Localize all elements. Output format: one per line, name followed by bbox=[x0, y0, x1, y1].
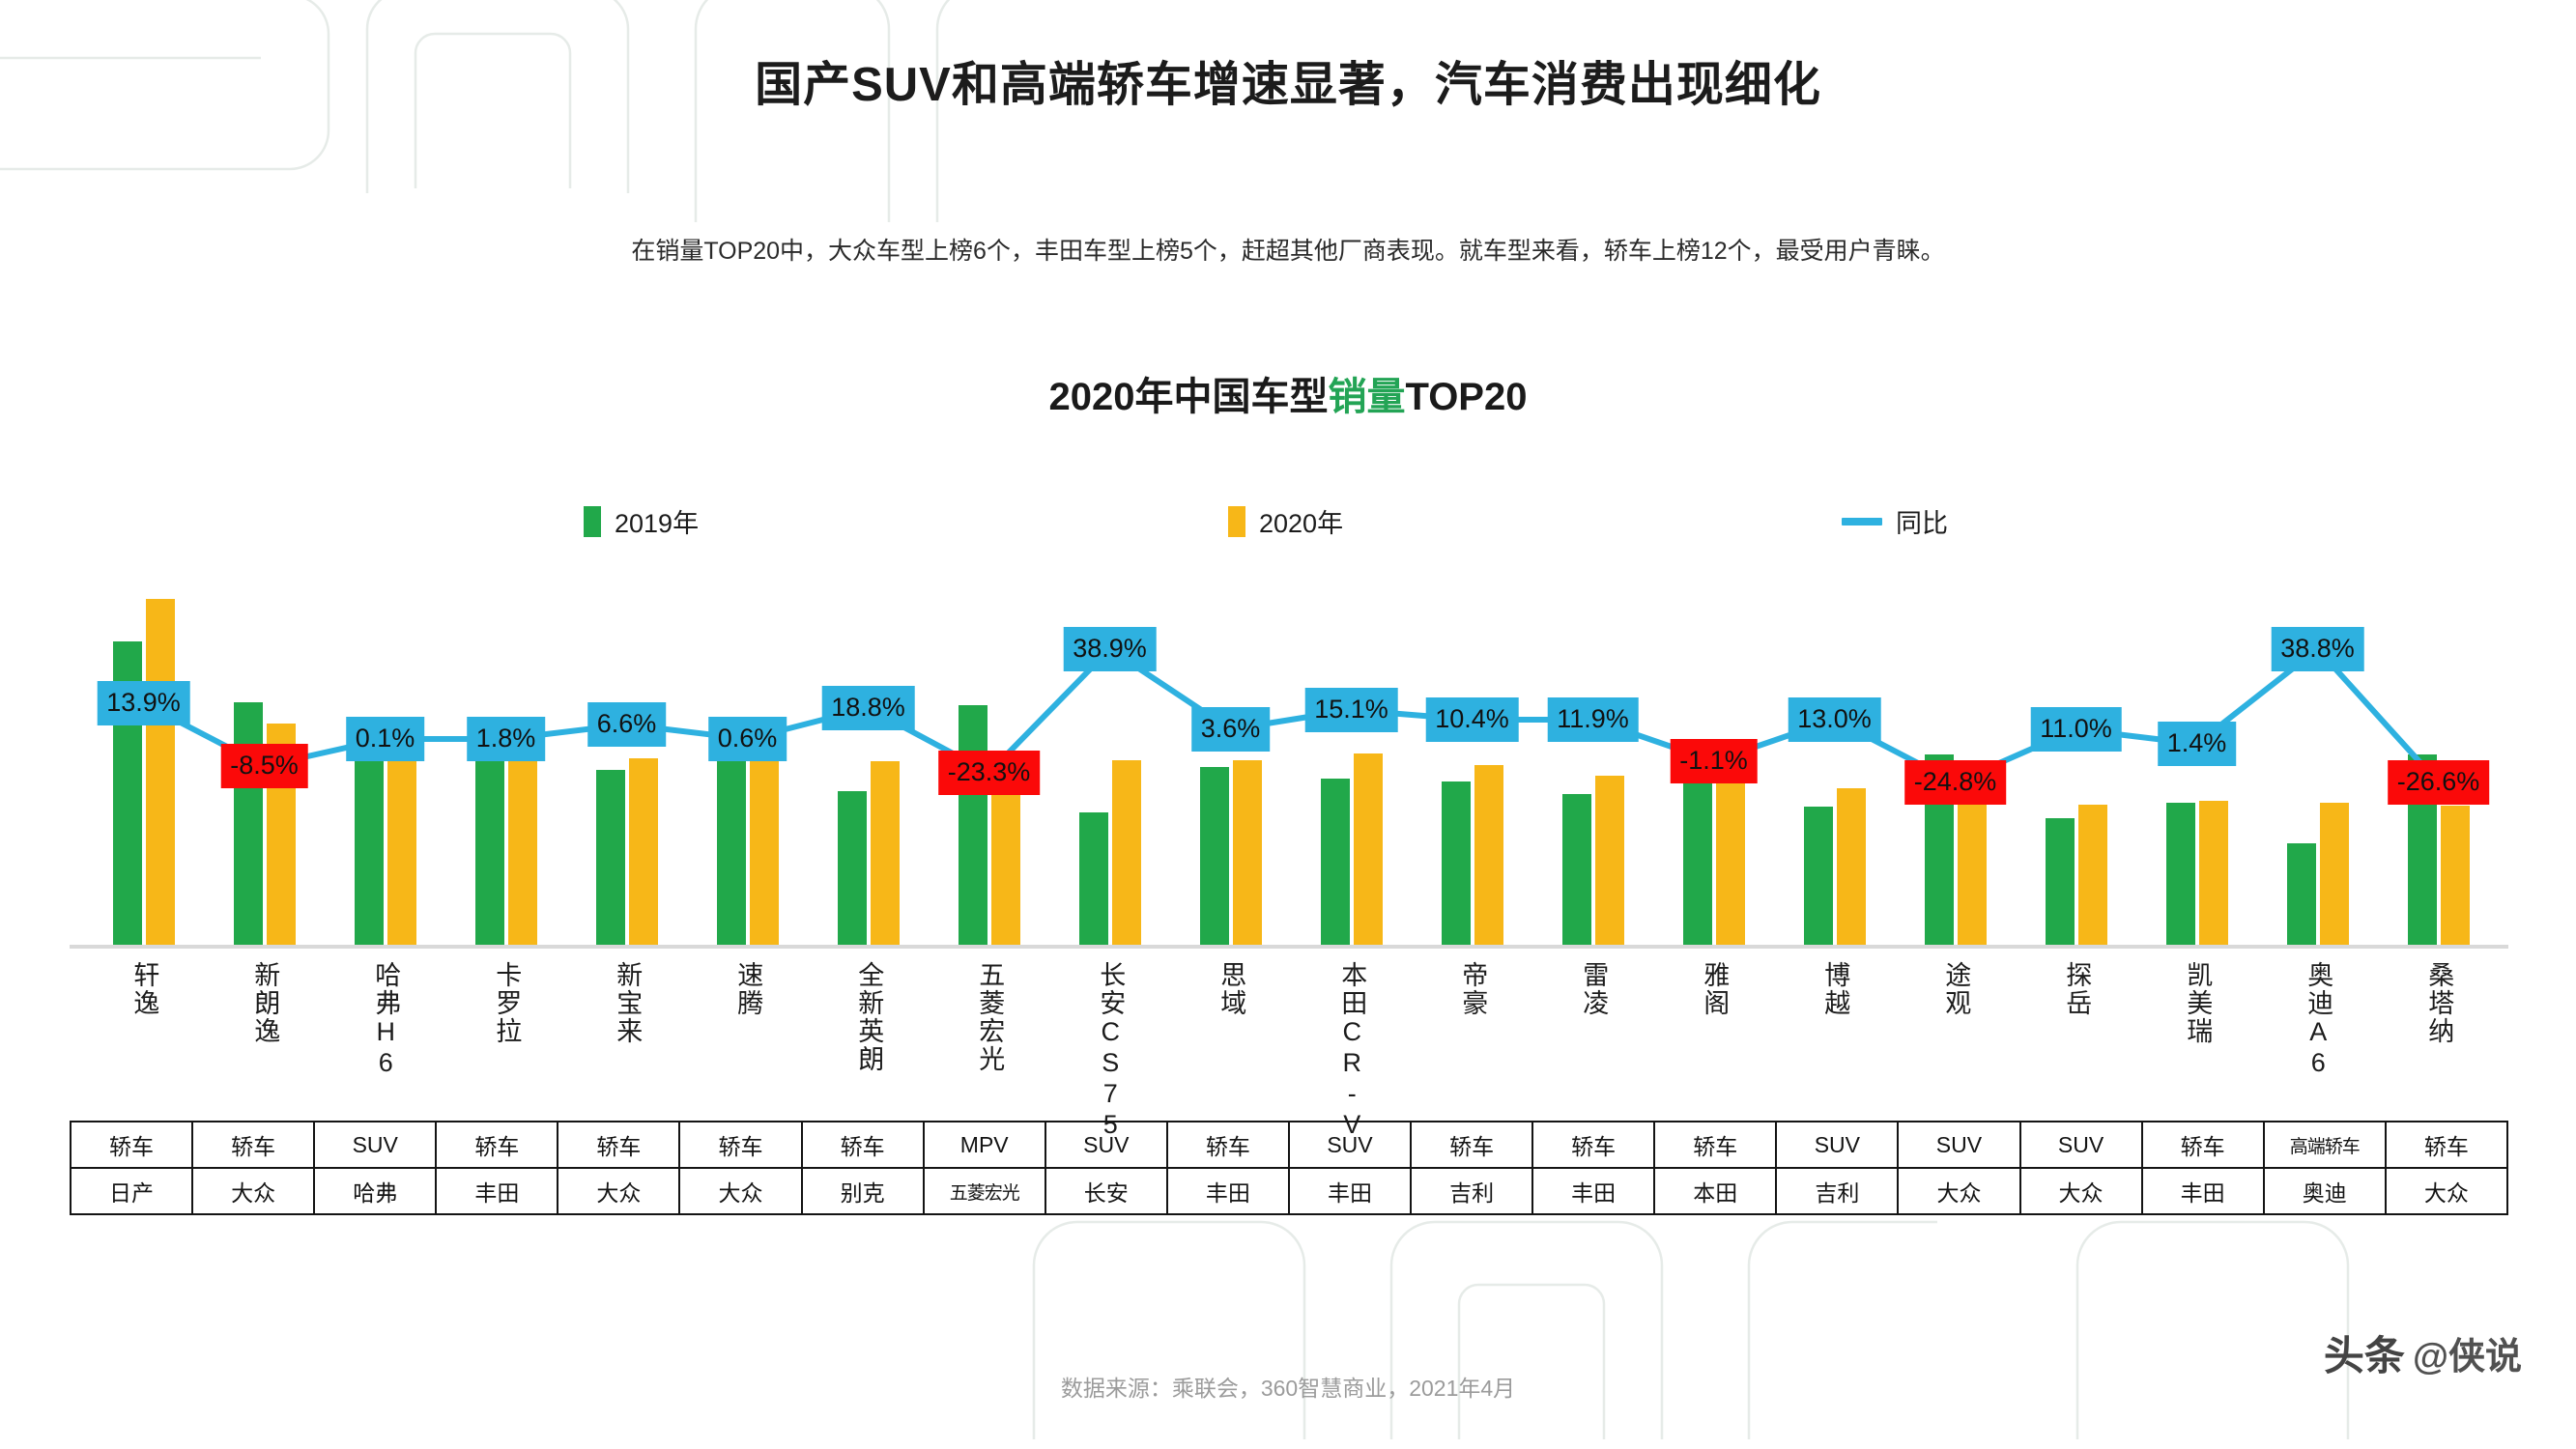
chart-title: 2020年中国车型销量TOP20 bbox=[0, 365, 2576, 421]
bar-group bbox=[566, 599, 687, 947]
x-axis-label: 新宝来 bbox=[614, 961, 641, 1045]
table-cell-vehicle-type: 轿车 bbox=[558, 1122, 679, 1168]
table-cell-brand: 大众 bbox=[192, 1168, 314, 1214]
yoy-label-negative: -26.6% bbox=[2388, 760, 2490, 805]
table-cell-brand: 大众 bbox=[558, 1168, 679, 1214]
table-cell-brand: 吉利 bbox=[1411, 1168, 1532, 1214]
watermark-text-right: @侠说 bbox=[2413, 1326, 2522, 1379]
bar-2020[interactable] bbox=[629, 758, 658, 947]
x-axis-label: 凯美瑞 bbox=[2184, 961, 2211, 1045]
legend-item-2020[interactable]: 2020年 bbox=[1228, 502, 1343, 540]
yoy-label-positive: 15.1% bbox=[1304, 688, 1398, 732]
x-axis-label: 五菱宏光 bbox=[976, 961, 1003, 1073]
bar-group bbox=[445, 599, 566, 947]
table-cell-brand: 日产 bbox=[71, 1168, 192, 1214]
table-cell-brand: 大众 bbox=[2386, 1168, 2507, 1214]
legend-swatch-yoy bbox=[1842, 518, 1882, 526]
table-row-vehicle-type: 轿车轿车SUV轿车轿车轿车轿车MPVSUV轿车SUV轿车轿车轿车SUVSUVSU… bbox=[71, 1122, 2507, 1168]
background-watermark-360-top bbox=[0, 0, 1121, 232]
table-cell-vehicle-type: SUV bbox=[1898, 1122, 2019, 1168]
table-cell-vehicle-type: SUV bbox=[314, 1122, 436, 1168]
table-cell-vehicle-type: 轿车 bbox=[2386, 1122, 2507, 1168]
table-cell-vehicle-type: 轿车 bbox=[436, 1122, 558, 1168]
chart-title-highlight: 销量 bbox=[1328, 376, 1405, 418]
vehicle-info-table: 轿车轿车SUV轿车轿车轿车轿车MPVSUV轿车SUV轿车轿车轿车SUVSUVSU… bbox=[70, 1121, 2508, 1215]
x-axis-label: 长安CS75 bbox=[1097, 961, 1124, 1141]
yoy-label-negative: -8.5% bbox=[220, 744, 308, 788]
x-axis-label: 速腾 bbox=[734, 961, 761, 1017]
bar-2020[interactable] bbox=[2199, 801, 2228, 947]
legend-label-2019: 2019年 bbox=[615, 502, 699, 540]
bar-2020[interactable] bbox=[2078, 805, 2107, 947]
table-cell-vehicle-type: SUV bbox=[1045, 1122, 1167, 1168]
x-axis-label: 轩逸 bbox=[130, 961, 157, 1017]
bar-group bbox=[687, 599, 808, 947]
bar-2020[interactable] bbox=[1958, 802, 1987, 947]
table-cell-brand: 本田 bbox=[1654, 1168, 1776, 1214]
chart-legend: 2019年 2020年 同比 bbox=[0, 500, 2576, 539]
yoy-label-positive: 11.0% bbox=[2030, 707, 2122, 752]
bar-2020[interactable] bbox=[508, 742, 537, 947]
bar-2019[interactable] bbox=[2046, 818, 2075, 947]
bar-2019[interactable] bbox=[2287, 843, 2316, 947]
yoy-label-positive: 6.6% bbox=[587, 702, 667, 747]
table-row-brand: 日产大众哈弗丰田大众大众别克五菱宏光长安丰田丰田吉利丰田本田吉利大众大众丰田奥迪… bbox=[71, 1168, 2507, 1214]
bar-plot-area bbox=[83, 599, 2499, 947]
table-cell-vehicle-type: 轿车 bbox=[71, 1122, 192, 1168]
bar-2020[interactable] bbox=[1837, 788, 1866, 947]
bar-group bbox=[808, 599, 929, 947]
bar-2019[interactable] bbox=[838, 791, 867, 947]
bar-2019[interactable] bbox=[1200, 767, 1229, 947]
bar-2019[interactable] bbox=[1804, 807, 1833, 947]
table-cell-brand: 丰田 bbox=[2142, 1168, 2264, 1214]
yoy-label-positive: 1.4% bbox=[2158, 722, 2237, 766]
table-cell-vehicle-type: 轿车 bbox=[679, 1122, 801, 1168]
yoy-label-positive: 0.1% bbox=[346, 717, 425, 761]
table-cell-vehicle-type: 轿车 bbox=[192, 1122, 314, 1168]
bar-2020[interactable] bbox=[1112, 760, 1141, 947]
bar-2019[interactable] bbox=[1442, 781, 1471, 947]
bar-2019[interactable] bbox=[959, 705, 987, 947]
table-cell-brand: 丰田 bbox=[1532, 1168, 1654, 1214]
bar-group bbox=[1774, 599, 1895, 947]
yoy-label-positive: 38.8% bbox=[2271, 627, 2364, 671]
bar-2020[interactable] bbox=[1474, 765, 1503, 947]
bar-group bbox=[83, 599, 204, 947]
legend-item-yoy[interactable]: 同比 bbox=[1842, 502, 1948, 540]
x-axis-label: 新朗逸 bbox=[251, 961, 278, 1045]
bar-2020[interactable] bbox=[146, 599, 175, 947]
bar-2020[interactable] bbox=[1716, 781, 1745, 947]
table-cell-vehicle-type: SUV bbox=[1776, 1122, 1898, 1168]
x-axis-label: 思域 bbox=[1217, 961, 1245, 1017]
bar-2020[interactable] bbox=[871, 761, 900, 947]
table-cell-brand: 大众 bbox=[2020, 1168, 2142, 1214]
x-axis-label: 桑塔纳 bbox=[2425, 961, 2452, 1045]
bar-2020[interactable] bbox=[1595, 776, 1624, 947]
table-cell-brand: 大众 bbox=[1898, 1168, 2019, 1214]
bar-group bbox=[2136, 599, 2257, 947]
table-cell-vehicle-type: 轿车 bbox=[1654, 1122, 1776, 1168]
bar-2019[interactable] bbox=[1079, 812, 1108, 947]
table-cell-vehicle-type: 高端轿车 bbox=[2264, 1122, 2386, 1168]
bar-2019[interactable] bbox=[1321, 779, 1350, 947]
bar-2019[interactable] bbox=[2166, 803, 2195, 947]
source-note: 数据来源：乘联会，360智慧商业，2021年4月 bbox=[0, 1370, 2576, 1403]
yoy-label-positive: 38.9% bbox=[1063, 627, 1157, 671]
legend-swatch-2019 bbox=[584, 506, 601, 537]
table-cell-vehicle-type: 轿车 bbox=[1411, 1122, 1532, 1168]
yoy-label-positive: 3.6% bbox=[1191, 707, 1271, 752]
yoy-label-positive: 11.9% bbox=[1547, 697, 1639, 742]
chart-title-prefix: 2020年中国车型 bbox=[1049, 376, 1329, 418]
legend-swatch-2020 bbox=[1228, 506, 1245, 537]
table-cell-vehicle-type: SUV bbox=[2020, 1122, 2142, 1168]
table-cell-vehicle-type: 轿车 bbox=[1532, 1122, 1654, 1168]
table-cell-brand: 丰田 bbox=[1289, 1168, 1411, 1214]
table-cell-brand: 丰田 bbox=[1167, 1168, 1289, 1214]
page-title: 国产SUV和高端轿车增速显著，汽车消费出现细化 bbox=[0, 46, 2576, 115]
table-cell-vehicle-type: 轿车 bbox=[1167, 1122, 1289, 1168]
x-axis-label: 哈弗H6 bbox=[372, 961, 399, 1079]
x-axis-label: 探岳 bbox=[2063, 961, 2090, 1017]
yoy-label-positive: 13.0% bbox=[1788, 697, 1881, 742]
table-cell-brand: 丰田 bbox=[436, 1168, 558, 1214]
bar-group bbox=[1412, 599, 1532, 947]
chart-title-suffix: TOP20 bbox=[1405, 376, 1527, 418]
x-axis-label: 雅阁 bbox=[1701, 961, 1728, 1017]
table-cell-brand: 哈弗 bbox=[314, 1168, 436, 1214]
legend-label-2020: 2020年 bbox=[1259, 502, 1343, 540]
bar-2020[interactable] bbox=[1354, 753, 1383, 947]
yoy-label-negative: -23.3% bbox=[938, 751, 1041, 795]
watermark-logo: 头条 @侠说 bbox=[2324, 1323, 2522, 1382]
legend-item-2019[interactable]: 2019年 bbox=[584, 502, 699, 540]
yoy-label-negative: -24.8% bbox=[1904, 760, 2007, 805]
yoy-label-positive: 10.4% bbox=[1425, 697, 1519, 742]
x-axis-label: 本田CR-V bbox=[1338, 961, 1365, 1141]
bar-group bbox=[1291, 599, 1412, 947]
table-cell-brand: 奥迪 bbox=[2264, 1168, 2386, 1214]
table-cell-vehicle-type: SUV bbox=[1289, 1122, 1411, 1168]
legend-label-yoy: 同比 bbox=[1896, 502, 1948, 540]
bar-2020[interactable] bbox=[2441, 806, 2470, 947]
bar-2019[interactable] bbox=[717, 754, 746, 947]
x-axis-label: 雷凌 bbox=[1580, 961, 1607, 1017]
bar-2019[interactable] bbox=[1683, 779, 1712, 947]
bar-2020[interactable] bbox=[2320, 803, 2349, 947]
bar-group bbox=[1170, 599, 1291, 947]
x-axis-label: 全新英朗 bbox=[855, 961, 882, 1073]
bar-group bbox=[2016, 599, 2136, 947]
bar-group bbox=[325, 599, 445, 947]
x-axis-label: 途观 bbox=[1942, 961, 1969, 1017]
watermark-text-left: 头条 bbox=[2324, 1323, 2405, 1382]
yoy-label-positive: 1.8% bbox=[467, 717, 546, 761]
bar-group bbox=[1532, 599, 1653, 947]
bar-2019[interactable] bbox=[234, 702, 263, 947]
table-cell-vehicle-type: 轿车 bbox=[2142, 1122, 2264, 1168]
yoy-label-positive: 13.9% bbox=[97, 681, 190, 725]
x-axis-label: 博越 bbox=[1821, 961, 1848, 1017]
page-subtitle: 在销量TOP20中，大众车型上榜6个，丰田车型上榜5个，赶超其他厂商表现。就车型… bbox=[0, 232, 2576, 267]
bar-2020[interactable] bbox=[1233, 760, 1262, 947]
table-cell-brand: 别克 bbox=[802, 1168, 924, 1214]
yoy-label-positive: 0.6% bbox=[708, 717, 787, 761]
x-axis-label: 帝豪 bbox=[1459, 961, 1486, 1017]
table-cell-brand: 长安 bbox=[1045, 1168, 1167, 1214]
yoy-label-positive: 18.8% bbox=[821, 686, 915, 730]
table-cell-vehicle-type: MPV bbox=[924, 1122, 1045, 1168]
bar-2019[interactable] bbox=[1562, 794, 1591, 947]
yoy-label-negative: -1.1% bbox=[1670, 739, 1758, 783]
table-cell-brand: 大众 bbox=[679, 1168, 801, 1214]
bar-2019[interactable] bbox=[475, 745, 504, 947]
table-cell-brand: 吉利 bbox=[1776, 1168, 1898, 1214]
bar-2019[interactable] bbox=[596, 770, 625, 947]
bar-2020[interactable] bbox=[750, 753, 779, 947]
table-cell-vehicle-type: 轿车 bbox=[802, 1122, 924, 1168]
x-axis-label: 奥迪A6 bbox=[2304, 961, 2332, 1079]
x-axis-label: 卡罗拉 bbox=[493, 961, 520, 1045]
x-axis-line bbox=[70, 945, 2508, 949]
table-cell-brand: 五菱宏光 bbox=[924, 1168, 1045, 1214]
